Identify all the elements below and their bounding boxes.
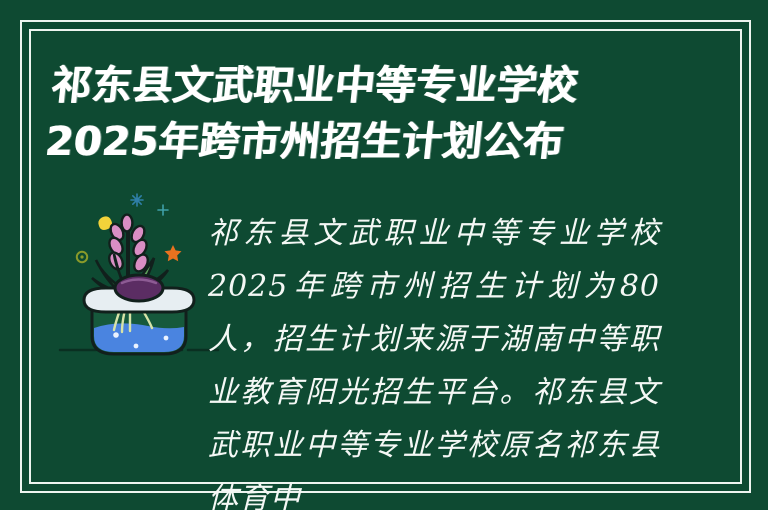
page-title: 祁东县文武职业中等专业学校2025年跨市州招生计划公布 [42, 58, 674, 170]
blue-snowflake-sparkle [131, 194, 143, 206]
teal-plus-sparkle [158, 205, 168, 215]
hyacinth-illustration [58, 188, 220, 380]
article-body: 祁东县文武职业中等专业学校2025年跨市州招生计划为80人，招生计划来源于湖南中… [208, 207, 660, 510]
water-bubble [134, 344, 139, 349]
water-bubble [164, 336, 169, 341]
water-bubble [113, 332, 119, 338]
orange-star-sparkle [165, 245, 182, 261]
poster-canvas: 祁东县文武职业中等专业学校2025年跨市州招生计划公布 [0, 0, 768, 510]
olive-ring-sparkle [77, 252, 87, 262]
